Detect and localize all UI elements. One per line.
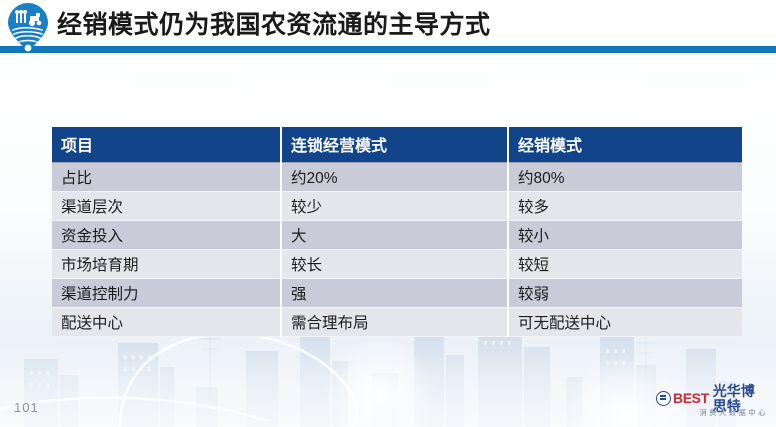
page-title: 经销模式仍为我国农资流通的主导方式 <box>57 9 491 41</box>
cell-dealer: 较短 <box>508 250 742 279</box>
table-row: 市场培育期 较长 较短 <box>52 250 742 279</box>
table-row: 资金投入 大 较小 <box>52 221 742 250</box>
comparison-table-container: 项目 连锁经营模式 经销模式 占比 约20% 约80% 渠道层次 较少 较多 资… <box>52 127 742 337</box>
cell-item: 市场培育期 <box>52 250 281 279</box>
column-header-chain: 连锁经营模式 <box>281 127 508 163</box>
cell-dealer: 约80% <box>508 163 742 192</box>
column-header-dealer: 经销模式 <box>508 127 742 163</box>
brand-mark-text: BEST <box>673 391 709 406</box>
table-row: 渠道层次 较少 较多 <box>52 192 742 221</box>
cell-dealer: 可无配送中心 <box>508 308 742 337</box>
cell-item: 渠道层次 <box>52 192 281 221</box>
cell-dealer: 较多 <box>508 192 742 221</box>
cell-chain: 需合理布局 <box>281 308 508 337</box>
cell-item: 渠道控制力 <box>52 279 281 308</box>
cell-chain: 约20% <box>281 163 508 192</box>
table-body: 占比 约20% 约80% 渠道层次 较少 较多 资金投入 大 较小 市场培育期 … <box>52 163 742 337</box>
header-rule <box>0 46 776 53</box>
cell-chain: 较少 <box>281 192 508 221</box>
table-header: 项目 连锁经营模式 经销模式 <box>52 127 742 163</box>
cell-item: 占比 <box>52 163 281 192</box>
slide-canvas: 经销模式仍为我国农资流通的主导方式 项目 连锁经营模式 经销模式 占比 约20%… <box>0 0 776 427</box>
cell-chain: 较长 <box>281 250 508 279</box>
brand-subtitle: 消费大数据中心 <box>656 408 768 418</box>
page-number: 101 <box>14 400 39 415</box>
table-header-row: 项目 连锁经营模式 经销模式 <box>52 127 742 163</box>
comparison-table: 项目 连锁经营模式 经销模式 占比 约20% 约80% 渠道层次 较少 较多 资… <box>52 127 742 337</box>
table-row: 配送中心 需合理布局 可无配送中心 <box>52 308 742 337</box>
best-emblem-icon <box>656 391 671 406</box>
corporate-logo-primary: BEST 光华博思特 <box>656 390 768 407</box>
cell-item: 配送中心 <box>52 308 281 337</box>
farm-location-pin-icon <box>6 2 50 52</box>
table-row: 渠道控制力 强 较弱 <box>52 279 742 308</box>
cell-chain: 强 <box>281 279 508 308</box>
column-header-item: 项目 <box>52 127 281 163</box>
cell-dealer: 较小 <box>508 221 742 250</box>
cell-item: 资金投入 <box>52 221 281 250</box>
table-row: 占比 约20% 约80% <box>52 163 742 192</box>
corporate-logo: BEST 光华博思特 消费大数据中心 <box>656 390 768 420</box>
cell-chain: 大 <box>281 221 508 250</box>
cell-dealer: 较弱 <box>508 279 742 308</box>
